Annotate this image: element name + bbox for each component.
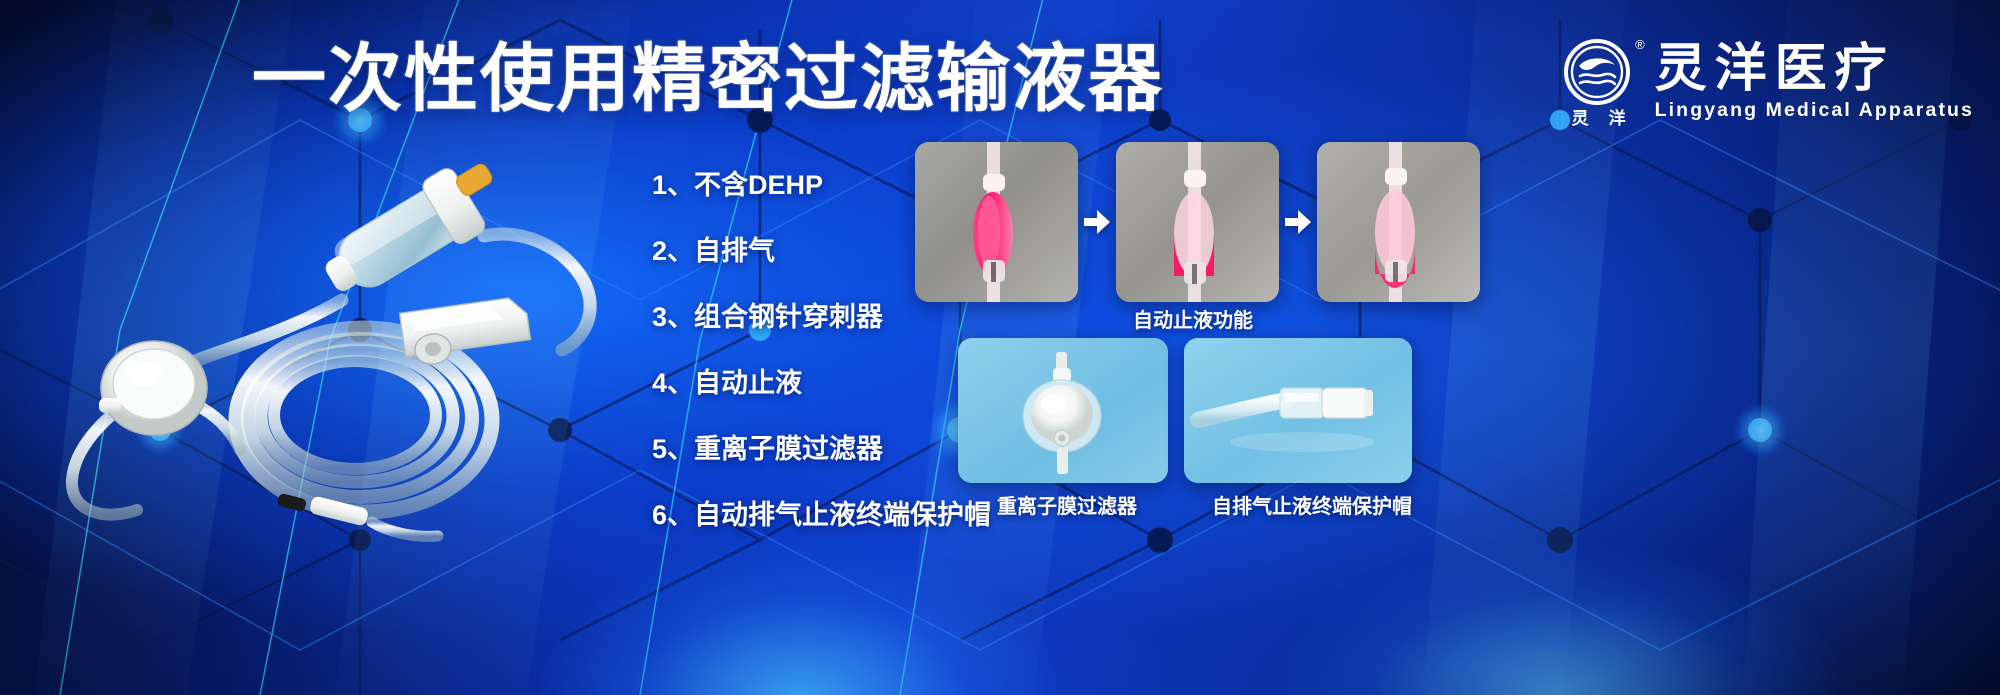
brand-lockup: ® 灵 洋 灵洋医疗 Lingyang Medical Apparatus: [1563, 36, 1974, 127]
seal-caption-right: 洋: [1609, 110, 1626, 127]
protective-cap-card-image: [1184, 338, 1412, 483]
filter-card-image: [958, 338, 1168, 483]
arrow-right-icon-2: [1279, 207, 1317, 237]
brand-name-block: 灵洋医疗 Lingyang Medical Apparatus: [1655, 42, 1974, 120]
arrow-right-icon: [1078, 207, 1116, 237]
auto-stop-sequence: [915, 142, 1480, 302]
feature-item-3: 3、组合钢针穿刺器: [652, 304, 992, 331]
registered-trademark-icon: ®: [1635, 38, 1645, 51]
bottom-left-glow: [540, 535, 1060, 695]
feature-item-5: 5、重离子膜过滤器: [652, 436, 992, 463]
filter-caption: 重离子膜过滤器: [997, 497, 1137, 517]
protective-cap-caption: 自排气止液终端保护帽: [1212, 497, 1412, 517]
product-banner: 一次性使用精密过滤输液器 ® 灵 洋 灵洋医疗 Lingyang Medical…: [0, 0, 2000, 695]
sequence-frame-3: [1317, 142, 1480, 302]
page-title: 一次性使用精密过滤输液器: [252, 42, 1164, 116]
brand-logo: ® 灵 洋: [1563, 36, 1635, 127]
sequence-frame-1: [915, 142, 1078, 302]
bottom-right-glow: [1280, 545, 1840, 695]
sequence-frame-2: [1116, 142, 1279, 302]
sequence-caption: 自动止液功能: [1133, 311, 1253, 331]
seal-caption-left: 灵: [1572, 110, 1589, 127]
seal-emblem-icon: ®: [1563, 36, 1635, 108]
feature-item-4: 4、自动止液: [652, 370, 992, 397]
product-main-image: [42, 150, 652, 550]
brand-name-cn: 灵洋医疗: [1655, 42, 1974, 97]
seal-caption: 灵 洋: [1572, 110, 1626, 127]
brand-name-en: Lingyang Medical Apparatus: [1655, 101, 1974, 121]
round-filter-part: [99, 341, 207, 435]
feature-item-6: 6、自动排气止液终端保护帽: [652, 502, 992, 529]
